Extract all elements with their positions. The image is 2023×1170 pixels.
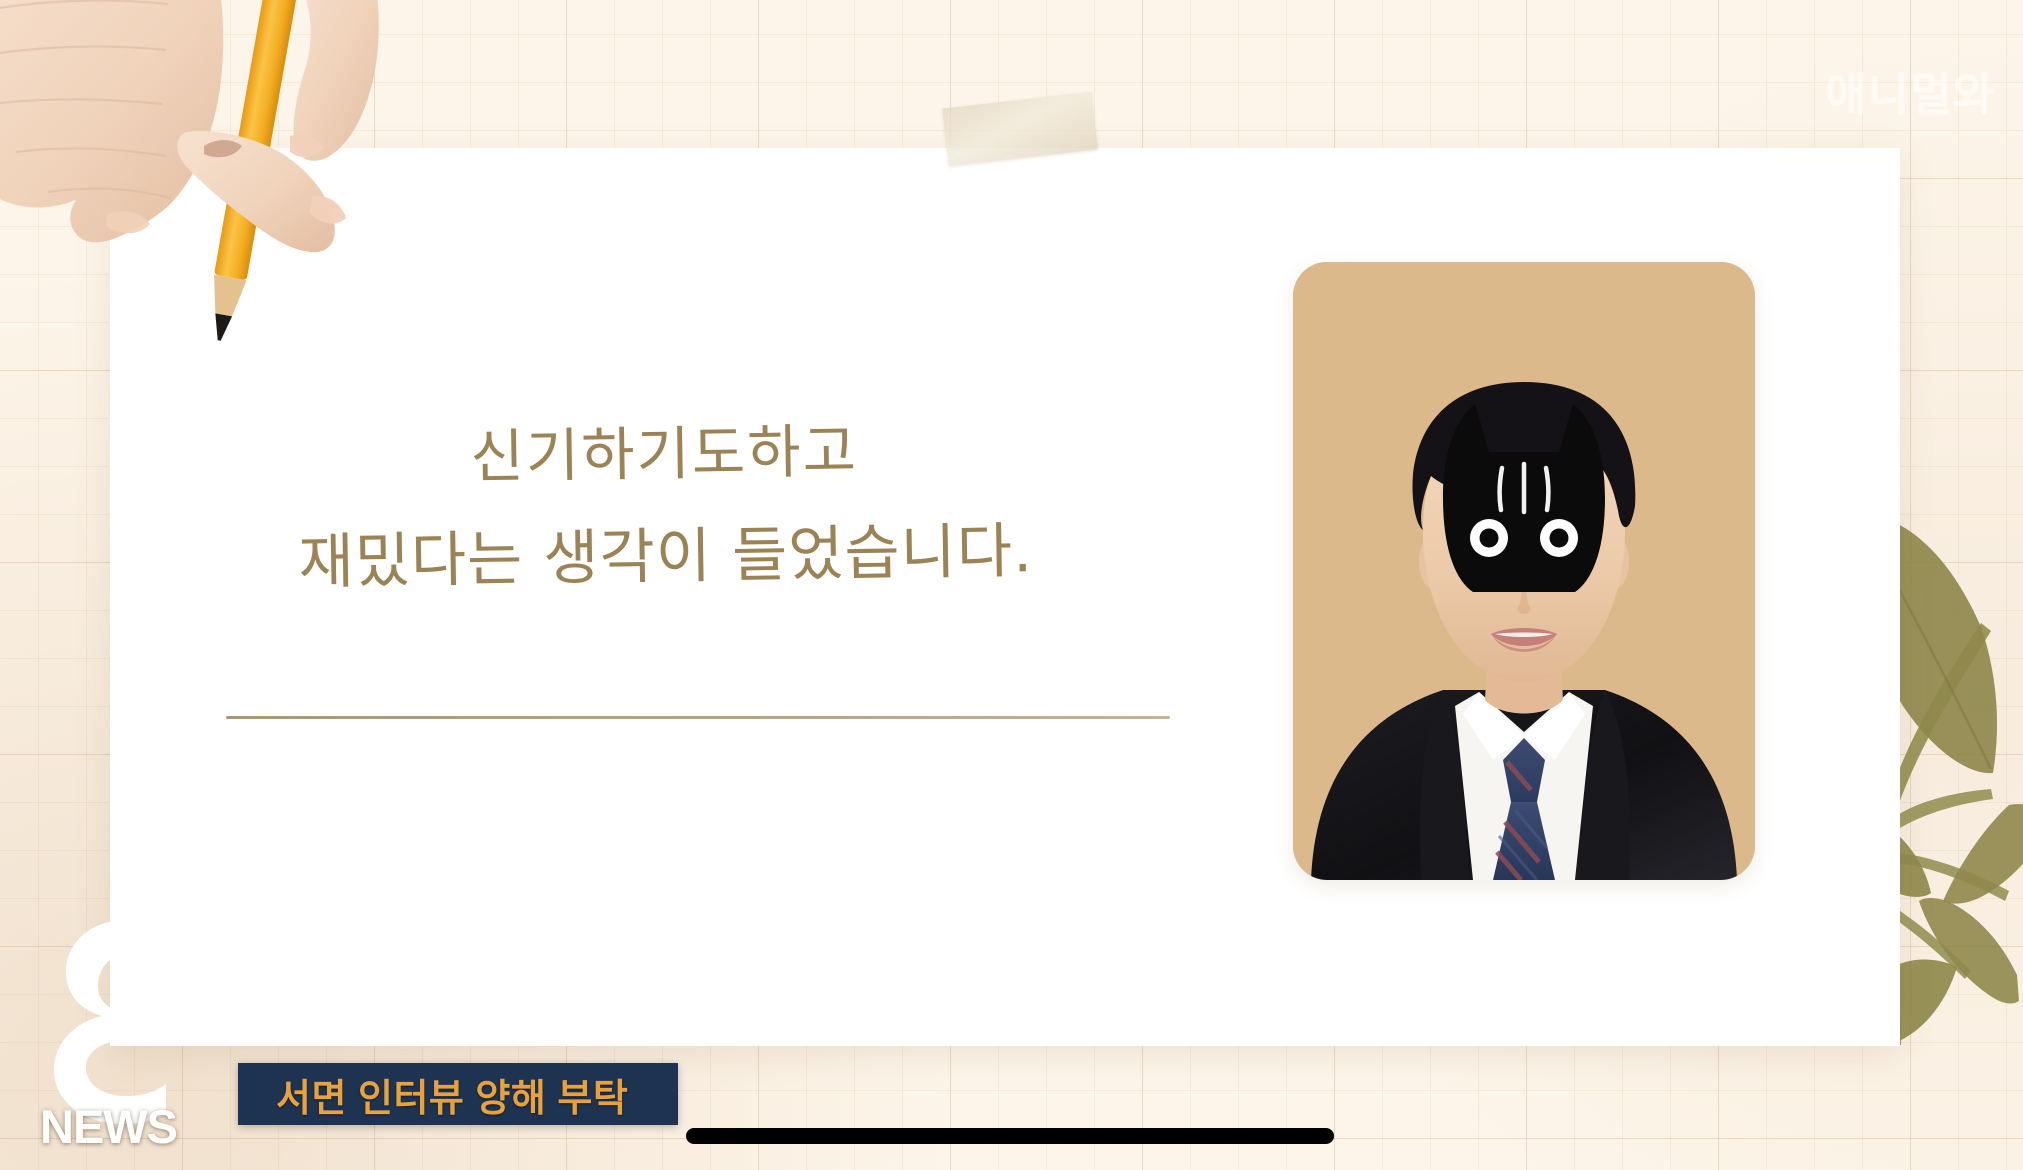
home-indicator-bar[interactable]	[686, 1128, 1334, 1144]
video-frame: 신기하기도하고 재밌다는 생각이 들었습니다.	[0, 0, 2023, 1170]
quote-line-1: 신기하기도하고	[134, 402, 1195, 507]
portrait-photo	[1293, 262, 1755, 880]
channel-watermark: 애니멀와	[1825, 58, 1995, 123]
hand-holding-pencil-decoration	[0, 0, 430, 386]
handwritten-quote: 신기하기도하고 재밌다는 생각이 들었습니다.	[134, 402, 1197, 612]
quote-line-2: 재밌다는 생각이 들었습니다.	[135, 504, 1196, 612]
lower-third-banner-text: 서면 인터뷰 양해 부탁	[238, 1067, 628, 1122]
lower-third-banner: 서면 인터뷰 양해 부탁	[238, 1063, 678, 1125]
quote-underline-rule	[226, 716, 1170, 719]
